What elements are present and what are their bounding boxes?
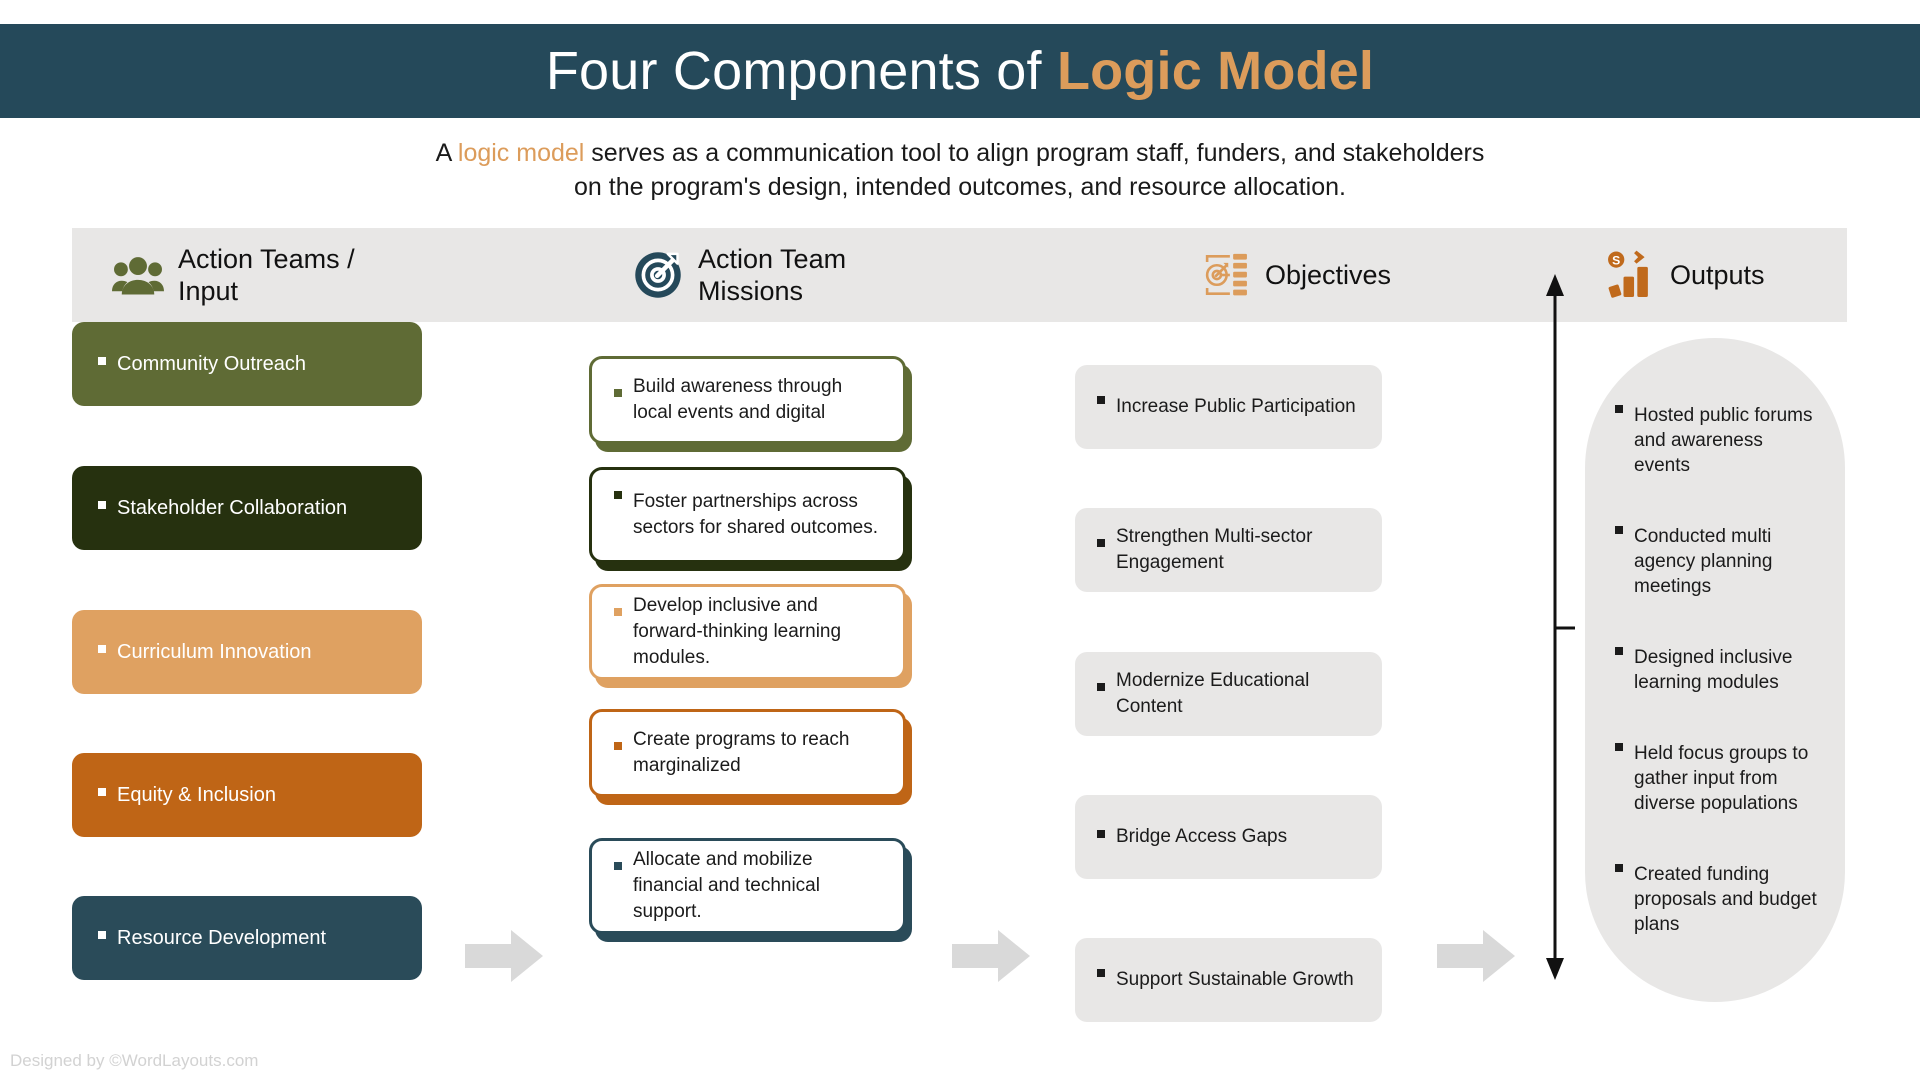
input-pill[interactable]: Equity & Inclusion xyxy=(72,753,422,837)
arrow-objectives-to-outputs-icon xyxy=(1437,928,1515,984)
column-header-missions-label: Action Team Missions xyxy=(698,243,846,307)
mission-card[interactable]: Build awareness through local events and… xyxy=(589,356,906,444)
bullet-icon xyxy=(1097,683,1105,691)
objective-card[interactable]: Increase Public Participation xyxy=(1075,365,1382,449)
page-title-accent: Logic Model xyxy=(1057,41,1374,101)
output-item: Created funding proposals and budget pla… xyxy=(1615,862,1819,937)
objective-card[interactable]: Bridge Access Gaps xyxy=(1075,795,1382,879)
bullet-icon xyxy=(98,645,106,653)
bullet-icon xyxy=(614,742,622,750)
objective-card-label: Bridge Access Gaps xyxy=(1116,824,1287,850)
mission-card-label: Build awareness through local events and… xyxy=(633,374,885,426)
output-item-label: Created funding proposals and budget pla… xyxy=(1634,862,1819,937)
input-pill[interactable]: Stakeholder Collaboration xyxy=(72,466,422,550)
logic-model-board: Community Outreach Stakeholder Collabora… xyxy=(0,322,1920,1042)
bullet-icon xyxy=(98,501,106,509)
bullet-icon xyxy=(614,389,622,397)
mission-card-label: Develop inclusive and forward-thinking l… xyxy=(633,593,885,671)
subtitle-line-2: on the program's design, intended outcom… xyxy=(0,170,1920,204)
footer-credit: Designed by ©WordLayouts.com xyxy=(10,1051,258,1071)
column-header-strip: Action Teams / Input Action Team Mission… xyxy=(72,228,1847,322)
mission-card[interactable]: Create programs to reach marginalized xyxy=(589,709,906,797)
people-group-icon xyxy=(112,249,164,301)
target-checklist-icon xyxy=(1199,249,1251,301)
subtitle-rest: serves as a communication tool to align … xyxy=(584,139,1484,167)
input-pill-label: Resource Development xyxy=(117,926,326,951)
target-arrow-icon xyxy=(632,249,684,301)
vertical-range-arrow-icon xyxy=(1535,272,1575,982)
bullet-icon xyxy=(98,788,106,796)
bullet-icon xyxy=(1097,830,1105,838)
mission-card[interactable]: Foster partnerships across sectors for s… xyxy=(589,467,906,563)
mission-card[interactable]: Allocate and mobilize financial and tech… xyxy=(589,838,906,934)
objective-card-label: Increase Public Participation xyxy=(1116,394,1356,420)
column-header-missions: Action Team Missions xyxy=(617,243,1144,307)
column-header-objectives-label: Objectives xyxy=(1265,259,1391,291)
mission-card[interactable]: Develop inclusive and forward-thinking l… xyxy=(589,584,906,680)
objective-card-label: Support Sustainable Growth xyxy=(1116,967,1354,993)
subtitle-accent-term: logic model xyxy=(458,139,584,167)
bullet-icon xyxy=(614,608,622,616)
bullet-icon xyxy=(98,931,106,939)
output-item: Conducted multi agency planning meetings xyxy=(1615,524,1819,599)
bullet-icon xyxy=(1097,396,1105,404)
mission-card-label: Foster partnerships across sectors for s… xyxy=(633,489,885,541)
column-header-outputs-label: Outputs xyxy=(1670,259,1765,291)
input-pill-label: Equity & Inclusion xyxy=(117,783,276,808)
output-item: Designed inclusive learning modules xyxy=(1615,645,1819,695)
input-pill-label: Curriculum Innovation xyxy=(117,640,312,665)
output-item: Held focus groups to gather input from d… xyxy=(1615,741,1819,816)
page-title-main: Four Components of xyxy=(546,41,1057,101)
bullet-icon xyxy=(1615,647,1623,655)
objective-card-label: Strengthen Multi-sector Engagement xyxy=(1116,524,1366,576)
input-pill[interactable]: Community Outreach xyxy=(72,322,422,406)
bullet-icon xyxy=(98,357,106,365)
output-item-label: Held focus groups to gather input from d… xyxy=(1634,741,1819,816)
subtitle-line-1: A logic model serves as a communication … xyxy=(0,136,1920,170)
money-bar-chart-icon: S xyxy=(1604,249,1656,301)
arrow-missions-to-objectives-icon xyxy=(952,928,1030,984)
subtitle-lead: A xyxy=(436,139,458,167)
objective-card[interactable]: Support Sustainable Growth xyxy=(1075,938,1382,1022)
arrow-input-to-missions-icon xyxy=(465,928,543,984)
page-title: Four Components of Logic Model xyxy=(546,40,1374,102)
mission-card-label: Create programs to reach marginalized xyxy=(633,727,885,779)
bullet-icon xyxy=(1097,969,1105,977)
bullet-icon xyxy=(614,862,622,870)
column-header-outputs: S Outputs xyxy=(1594,249,1847,301)
svg-text:S: S xyxy=(1612,253,1620,267)
column-header-input-label: Action Teams / Input xyxy=(178,243,355,307)
output-item-label: Conducted multi agency planning meetings xyxy=(1634,524,1819,599)
output-item-label: Hosted public forums and awareness event… xyxy=(1634,403,1819,478)
input-pill-label: Stakeholder Collaboration xyxy=(117,496,347,521)
input-pill[interactable]: Curriculum Innovation xyxy=(72,610,422,694)
objective-card-label: Modernize Educational Content xyxy=(1116,668,1366,720)
bullet-icon xyxy=(1615,405,1623,413)
column-header-objectives: Objectives xyxy=(1144,249,1594,301)
title-bar: Four Components of Logic Model xyxy=(0,24,1920,118)
objective-card[interactable]: Strengthen Multi-sector Engagement xyxy=(1075,508,1382,592)
outputs-capsule[interactable]: Hosted public forums and awareness event… xyxy=(1585,338,1845,1002)
input-pill-label: Community Outreach xyxy=(117,352,306,377)
output-item: Hosted public forums and awareness event… xyxy=(1615,403,1819,478)
output-item-label: Designed inclusive learning modules xyxy=(1634,645,1819,695)
bullet-icon xyxy=(1615,864,1623,872)
subtitle: A logic model serves as a communication … xyxy=(0,136,1920,204)
bullet-icon xyxy=(1615,743,1623,751)
mission-card-label: Allocate and mobilize financial and tech… xyxy=(633,847,885,925)
bullet-icon xyxy=(1097,539,1105,547)
bullet-icon xyxy=(614,491,622,499)
column-header-input: Action Teams / Input xyxy=(72,243,617,307)
bullet-icon xyxy=(1615,526,1623,534)
objective-card[interactable]: Modernize Educational Content xyxy=(1075,652,1382,736)
input-pill[interactable]: Resource Development xyxy=(72,896,422,980)
